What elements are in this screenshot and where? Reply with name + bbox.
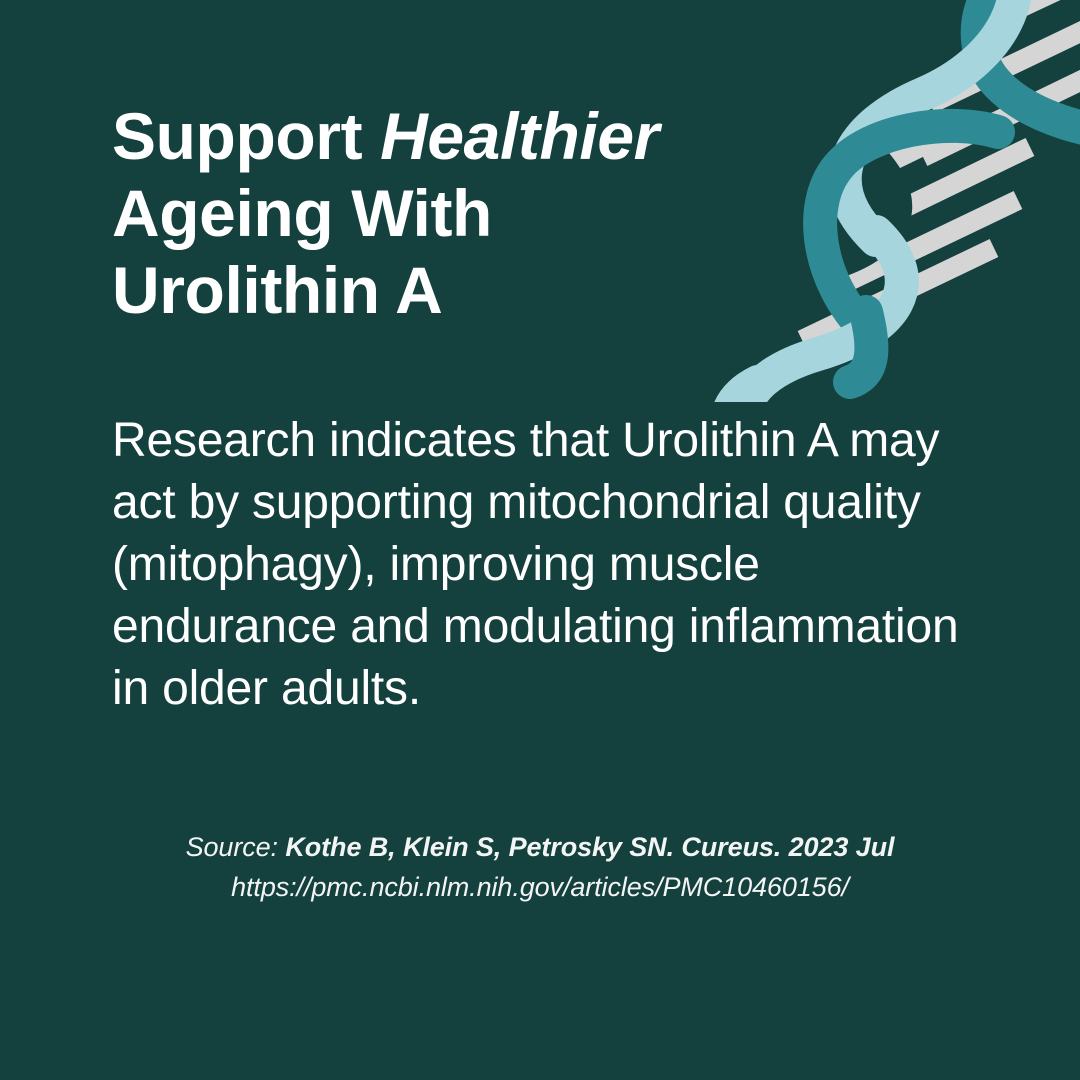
content-block: Support Healthier Ageing With Urolithin … (112, 98, 992, 330)
source-label: Source: (186, 832, 286, 862)
promo-card: Support Healthier Ageing With Urolithin … (0, 0, 1080, 1080)
source-line: Source: Kothe B, Klein S, Petrosky SN. C… (0, 828, 1080, 867)
headline-part-2: Ageing With Urolithin A (112, 176, 492, 327)
headline-part-1: Support (112, 99, 380, 173)
source-reference: Kothe B, Klein S, Petrosky SN. Cureus. 2… (285, 832, 894, 862)
body-paragraph: Research indicates that Urolithin A may … (112, 410, 962, 720)
headline-emphasis: Healthier (380, 99, 659, 173)
helix-strand-dark (978, 0, 1080, 134)
source-url[interactable]: https://pmc.ncbi.nlm.nih.gov/articles/PM… (0, 867, 1080, 908)
page-title: Support Healthier Ageing With Urolithin … (112, 98, 772, 330)
source-citation-block: Source: Kothe B, Klein S, Petrosky SN. C… (0, 828, 1080, 908)
helix-strand-light-tail (727, 382, 758, 402)
